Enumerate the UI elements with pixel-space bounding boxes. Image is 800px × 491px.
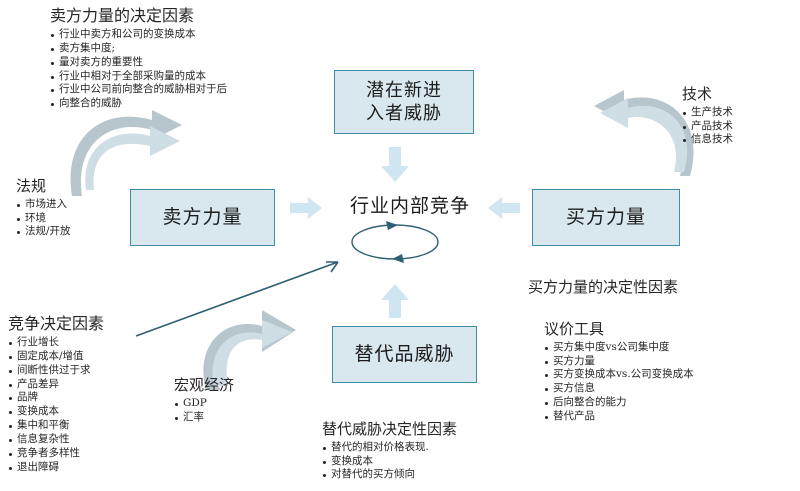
block-arrow-right-icon [290,197,322,219]
list-item: 生产技术 [682,106,733,120]
block-arrow-down-icon [381,147,409,182]
list-item: 品牌 [8,391,104,405]
box-buyer-power[interactable]: 买方力量 [532,189,680,246]
list-item: 变换成本 [8,405,104,419]
box-supplier-power-label: 卖方力量 [162,205,242,229]
box-supplier-power[interactable]: 卖方力量 [130,189,275,246]
list-item: 竞争者多样性 [8,447,104,461]
list-item: 变换成本 [322,455,457,469]
factor-macro-economy-list: GDP 汇率 [174,397,234,425]
factor-technology-list: 生产技术 产品技术 信息技术 [682,106,733,148]
list-item: GDP [174,397,234,411]
list-item: 集中和平衡 [8,419,104,433]
list-item: 信息复杂性 [8,433,104,447]
block-arrow-left-icon [488,197,520,219]
factor-competition-determinants-title: 竞争决定因素 [8,314,104,334]
list-item: 市场进入 [16,198,71,212]
list-item: 卖方集中度; [50,42,227,56]
list-item: 对替代的买方倾向 [322,468,457,482]
factor-regulation: 法规 市场进入 环境 法规/开放 [16,177,71,239]
factor-supplier-determinants-title: 卖方力量的决定因素 [50,6,227,26]
box-new-entrants-label-line1: 潜在新进 [366,79,442,102]
box-substitutes-label: 替代品威胁 [354,342,454,366]
list-item: 替代的相对价格表现. [322,441,457,455]
list-item: 买方变换成本vs.公司变换成本 [544,368,694,382]
factor-buyer-bargaining-tools: 议价工具 买方集中度vs公司集中度 买方力量 买方变换成本vs.公司变换成本 买… [544,320,694,424]
list-item: 信息技术 [682,133,733,147]
factor-buyer-bargaining-tools-list: 买方集中度vs公司集中度 买方力量 买方变换成本vs.公司变换成本 买方信息 后… [544,341,694,424]
factor-technology: 技术 生产技术 产品技术 信息技术 [682,85,733,147]
list-item: 退出障碍 [8,461,104,475]
factor-supplier-determinants-list: 行业中卖方和公司的变换成本 卖方集中度; 量对卖方的重要性 行业中相对于全部采购… [50,28,227,111]
list-item: 向整合的威胁 [50,97,227,111]
factor-buyer-determinants-heading: 买方力量的决定性因素 [528,278,678,297]
box-new-entrants-label-line2: 入者威胁 [366,102,442,125]
list-item: 产品技术 [682,120,733,134]
list-item: 买方信息 [544,382,694,396]
factor-substitute-determinants-list: 替代的相对价格表现. 变换成本 对替代的买方倾向 [322,441,457,483]
curved-arrow-regulation-icon [71,110,182,196]
list-item: 环境 [16,212,71,226]
factor-macro-economy-title: 宏观经济 [174,376,234,395]
list-item: 行业中卖方和公司的变换成本 [50,28,227,42]
factor-substitute-determinants: 替代威胁决定性因素 替代的相对价格表现. 变换成本 对替代的买方倾向 [322,420,457,482]
list-item: 买方集中度vs公司集中度 [544,341,694,355]
block-arrow-up-icon [381,284,409,318]
list-item: 固定成本/增值 [8,350,104,364]
rivalry-loop-icon [352,221,438,263]
factor-competition-determinants: 竞争决定因素 行业增长 固定成本/增值 间断性供过于求 产品差异 品牌 变换成本… [8,314,104,475]
list-item: 产品差异 [8,378,104,392]
factor-macro-economy: 宏观经济 GDP 汇率 [174,376,234,424]
list-item: 行业增长 [8,336,104,350]
list-item: 量对卖方的重要性 [50,56,227,70]
diagonal-arrow-competition-icon [136,262,338,336]
curved-arrow-technology-icon [594,90,693,176]
box-new-entrants[interactable]: 潜在新进 入者威胁 [334,70,474,134]
list-item: 后向整合的能力 [544,396,694,410]
box-substitutes[interactable]: 替代品威胁 [332,326,477,383]
factor-buyer-bargaining-tools-title: 议价工具 [544,320,694,339]
factor-substitute-determinants-title: 替代威胁决定性因素 [322,420,457,439]
list-item: 买方力量 [544,355,694,369]
center-rivalry-label: 行业内部竞争 [330,191,490,218]
list-item: 行业中公司前向整合的威胁相对于后 [50,83,227,97]
list-item: 行业中相对于全部采购量的成本 [50,70,227,84]
box-buyer-power-label: 买方力量 [566,205,646,229]
list-item: 替代产品 [544,410,694,424]
factor-buyer-determinants: 买方力量的决定性因素 [528,278,678,297]
factor-regulation-title: 法规 [16,177,71,196]
factor-supplier-determinants: 卖方力量的决定因素 行业中卖方和公司的变换成本 卖方集中度; 量对卖方的重要性 … [50,6,227,111]
list-item: 汇率 [174,411,234,425]
list-item: 间断性供过于求 [8,364,104,378]
factor-competition-determinants-list: 行业增长 固定成本/增值 间断性供过于求 产品差异 品牌 变换成本 集中和平衡 … [8,336,104,475]
factor-technology-title: 技术 [682,85,733,104]
factor-regulation-list: 市场进入 环境 法规/开放 [16,198,71,240]
list-item: 法规/开放 [16,225,71,239]
